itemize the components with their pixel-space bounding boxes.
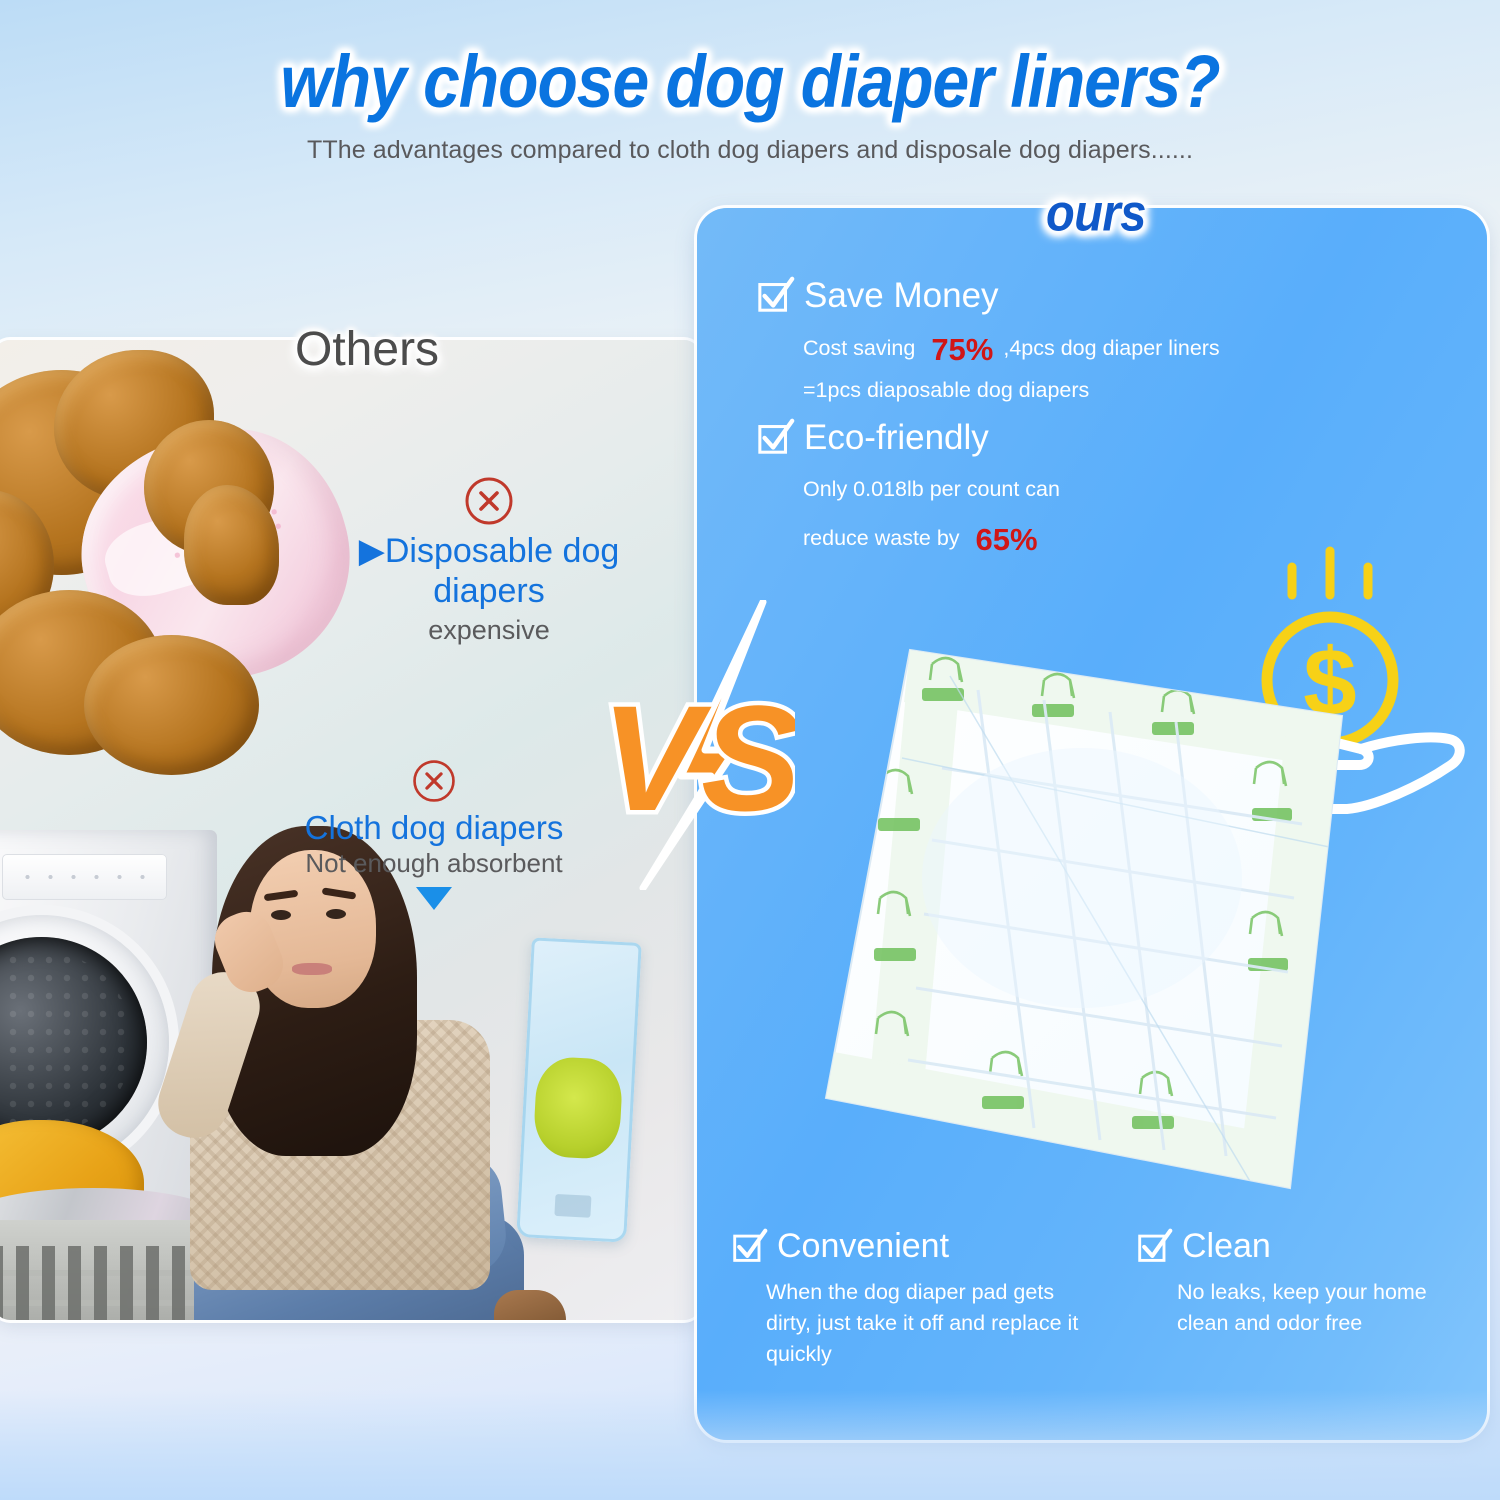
checkbox-checked-icon [1137,1228,1173,1264]
others-item-title: Cloth dog diapers [234,810,634,846]
feature-clean: Clean No leaks, keep your home clean and… [1137,1228,1467,1339]
ours-label: ours [1046,182,1146,243]
feature-title: Eco-friendly [804,420,989,455]
infographic-root: why choose dog diaper liners? TThe advan… [0,0,1500,1500]
feature-title: Save Money [804,278,999,313]
feature-body: No leaks, keep your home clean and odor … [1177,1277,1467,1339]
feature-body-line2: =1pcs diaposable dog diapers [803,378,1089,402]
others-label: Others [295,322,439,377]
header: why choose dog diaper liners? TThe advan… [0,0,1500,165]
checkbox-checked-icon [757,276,795,314]
others-item-title-line2: diapers [433,572,545,610]
page-subtitle: TThe advantages compared to cloth dog di… [0,136,1500,165]
feature-body: When the dog diaper pad gets dirty, just… [766,1277,1092,1371]
checkbox-checked-icon [732,1228,768,1264]
feature-body-pre: Cost saving [803,336,921,360]
wet-cloth-diaper [516,937,642,1242]
others-item-title-line1: Disposable dog [385,532,619,570]
vs-label: VS [601,674,795,842]
highlight-percent-badge: 75% [922,327,1002,375]
feature-save-money: Save Money Cost saving 75%,4pcs dog diap… [757,276,1317,406]
feature-convenient: Convenient When the dog diaper pad gets … [732,1228,1092,1371]
feature-title: Clean [1182,1229,1271,1263]
circle-x-icon [411,758,457,804]
others-item-subtitle: Not enough absorbent [234,848,634,879]
triangle-right-icon: ▶ [359,531,385,571]
feature-title: Convenient [777,1229,949,1263]
dog-wearing-disposable-diaper-photo [0,360,354,760]
ours-panel: Save Money Cost saving 75%,4pcs dog diap… [697,208,1487,1440]
versus-badge: VS [585,600,795,890]
page-title: why choose dog diaper liners? [0,44,1500,118]
triangle-down-icon [412,883,456,913]
feature-body-line1: Only 0.018lb per count can [803,477,1060,501]
dog-diaper-liner-pad [782,628,1412,1208]
feature-body-pre: reduce waste by [803,526,966,550]
highlight-percent-badge: 65% [967,510,1047,572]
checkbox-checked-icon [757,418,795,456]
others-item-cloth: Cloth dog diapers Not enough absorbent [234,758,634,913]
circle-x-icon [463,475,515,527]
feature-body-post: ,4pcs dog diaper liners [1003,336,1219,360]
